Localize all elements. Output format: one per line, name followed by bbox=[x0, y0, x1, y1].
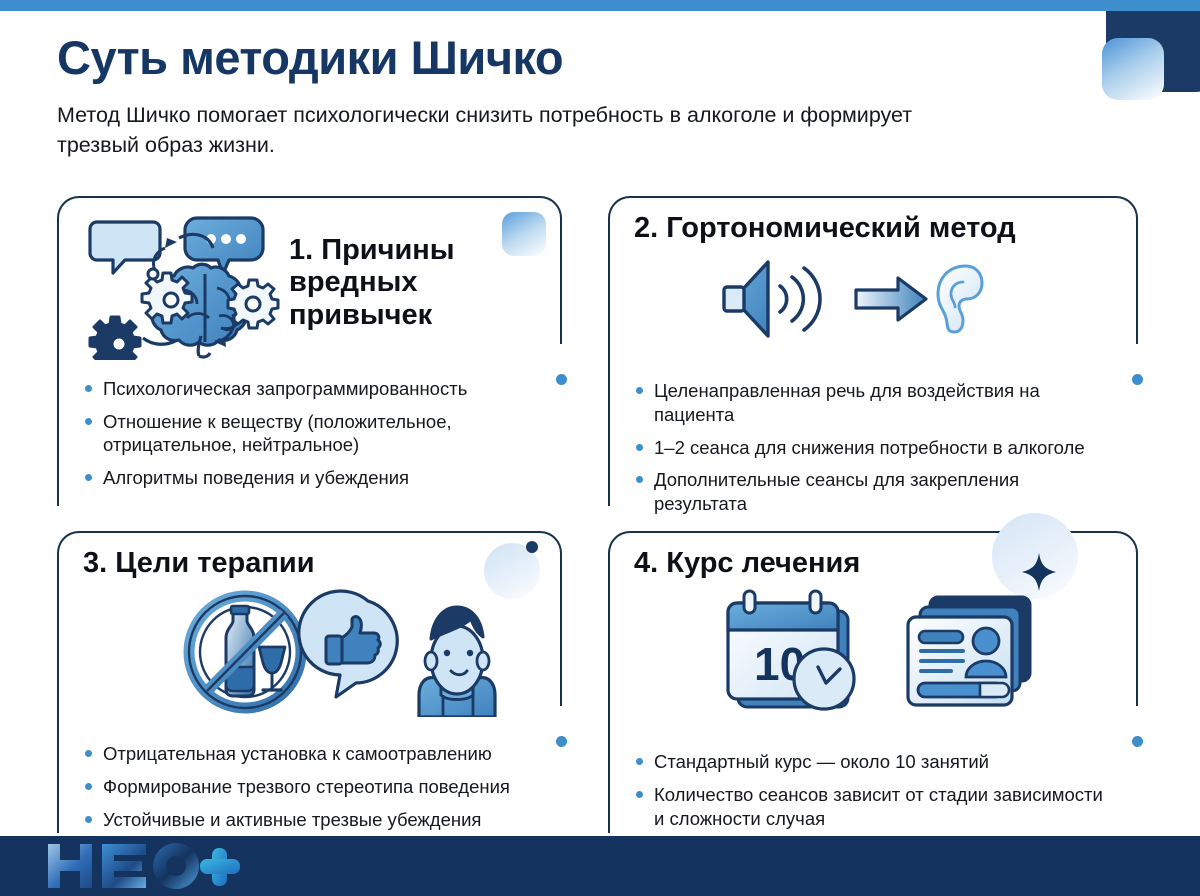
list-item: 1–2 сеанса для снижения потребности в ал… bbox=[634, 436, 1112, 460]
card-gortonomic-method: 2. Гортономический метод bbox=[608, 196, 1138, 506]
footer-divider bbox=[0, 833, 1200, 836]
cards-grid: 1. Причины вредных привычек Психологичес… bbox=[0, 196, 1200, 836]
list-item: Стандартный курс — около 10 занятий bbox=[634, 750, 1112, 774]
header: Суть методики Шичко Метод Шичко помогает… bbox=[57, 32, 1057, 161]
list-item: Дополнительные сеансы для закрепления ре… bbox=[634, 468, 1112, 515]
card-title: 3. Цели терапии bbox=[83, 547, 536, 579]
card-title: 1. Причины вредных привычек bbox=[289, 210, 529, 331]
card-bullet-list: Отрицательная установка к самоотравлению… bbox=[83, 742, 536, 831]
list-item: Целенаправленная речь для воздействия на… bbox=[634, 379, 1112, 426]
brain-gears-icon bbox=[83, 210, 283, 365]
list-item: Количество сеансов зависит от стадии зав… bbox=[634, 783, 1112, 830]
card-therapy-goals: 3. Цели терапии bbox=[57, 531, 562, 836]
decorative-light-square bbox=[1102, 38, 1164, 100]
footer-bar bbox=[0, 836, 1200, 896]
list-item: Отношение к веществу (положительное, отр… bbox=[83, 410, 536, 457]
neo-plus-logo bbox=[44, 842, 274, 890]
list-item: Психологическая запрограммированность bbox=[83, 377, 536, 401]
speaker-arrow-ear-icon bbox=[718, 254, 1018, 349]
page-subtitle: Метод Шичко помогает психологически сниз… bbox=[57, 100, 957, 161]
card-bullet-list: Целенаправленная речь для воздействия на… bbox=[634, 379, 1112, 515]
top-accent-bar bbox=[0, 0, 1200, 11]
card-treatment-course: 4. Курс лечения bbox=[608, 531, 1138, 836]
list-item: Формирование трезвого стереотипа поведен… bbox=[83, 775, 536, 799]
calendar-clock-cards-icon: 10 bbox=[714, 587, 1044, 722]
card-title: 4. Курс лечения bbox=[634, 547, 1112, 579]
card-causes: 1. Причины вредных привычек Психологичес… bbox=[57, 196, 562, 506]
card-bullet-list: Стандартный курс — около 10 занятий Коли… bbox=[634, 750, 1112, 830]
list-item: Алгоритмы поведения и убеждения bbox=[83, 466, 536, 490]
card-title: 2. Гортономический метод bbox=[634, 212, 1112, 244]
page-title: Суть методики Шичко bbox=[57, 32, 1057, 84]
no-alcohol-thumbsup-person-icon bbox=[183, 587, 513, 722]
list-item: Отрицательная установка к самоотравлению bbox=[83, 742, 536, 766]
list-item: Устойчивые и активные трезвые убеждения bbox=[83, 808, 536, 832]
card-bullet-list: Психологическая запрограммированность От… bbox=[83, 377, 536, 490]
